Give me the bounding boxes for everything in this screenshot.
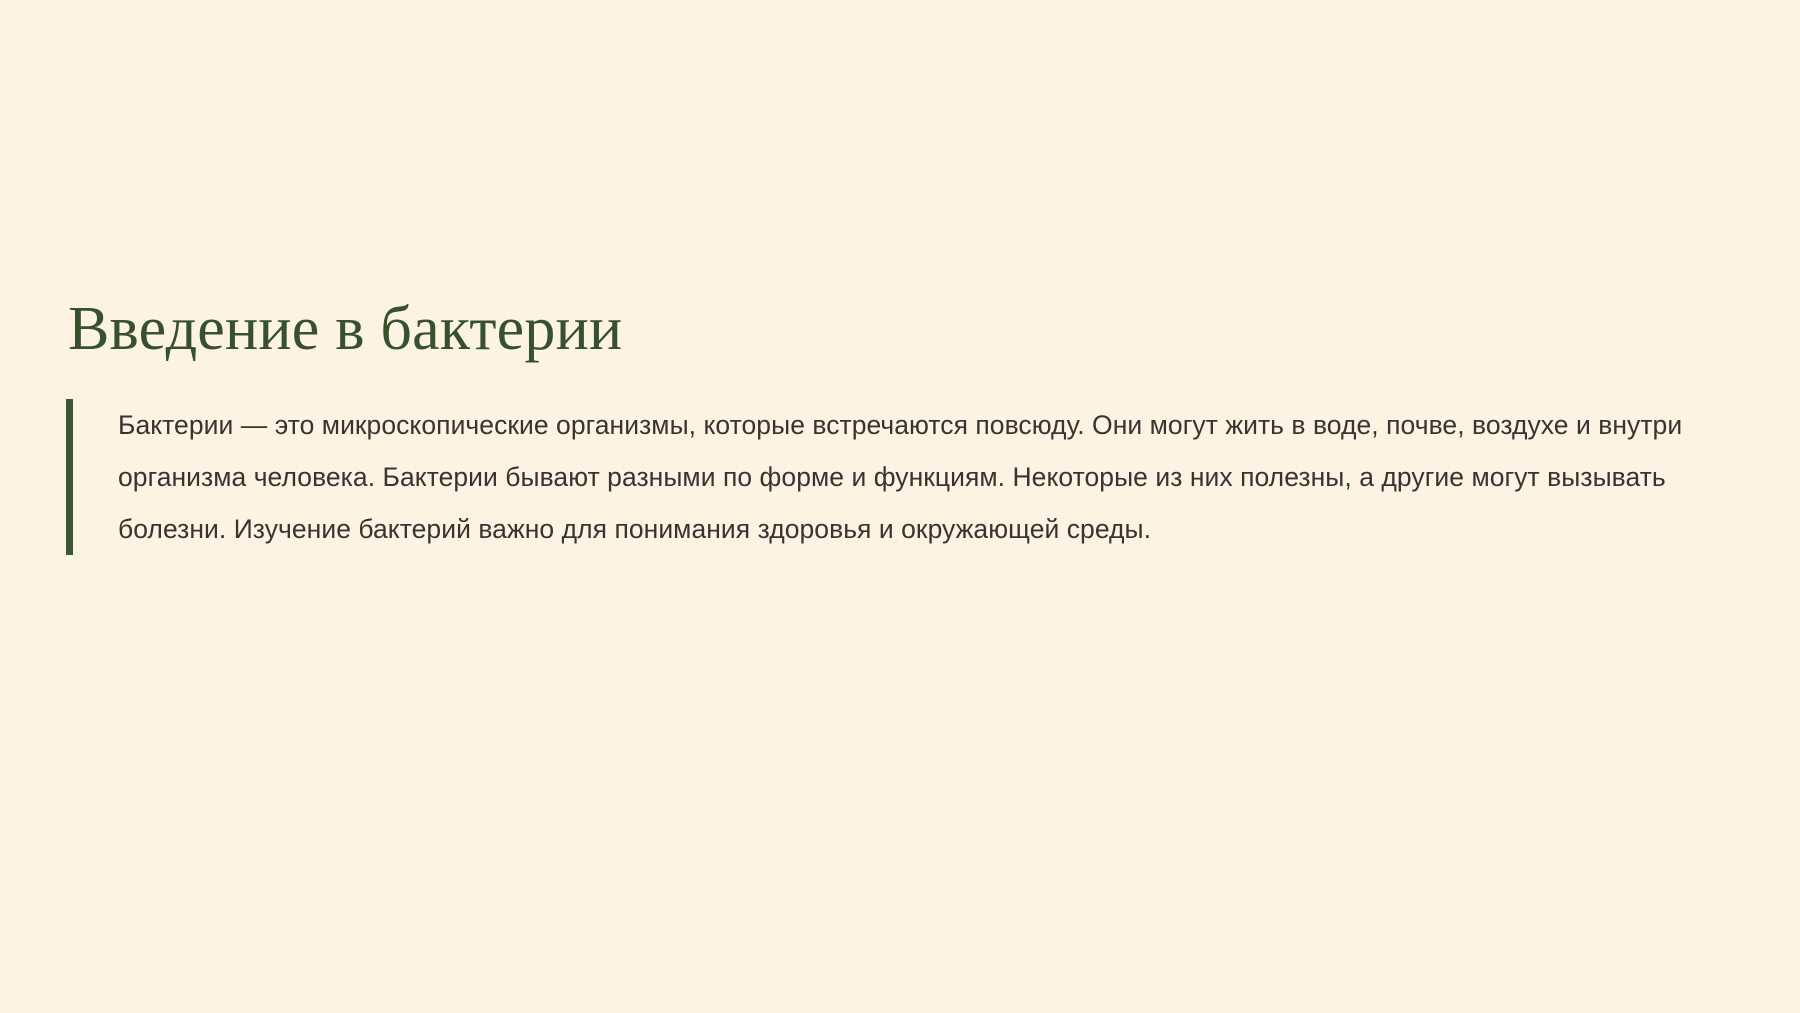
content-block: Введение в бактерии Бактерии — это микро… [66,296,1716,555]
body-paragraph: Бактерии — это микроскопические организм… [118,399,1716,555]
slide-canvas: Введение в бактерии Бактерии — это микро… [0,0,1800,1013]
page-title: Введение в бактерии [66,296,1716,363]
quote-accent-bar: Бактерии — это микроскопические организм… [66,399,1716,555]
